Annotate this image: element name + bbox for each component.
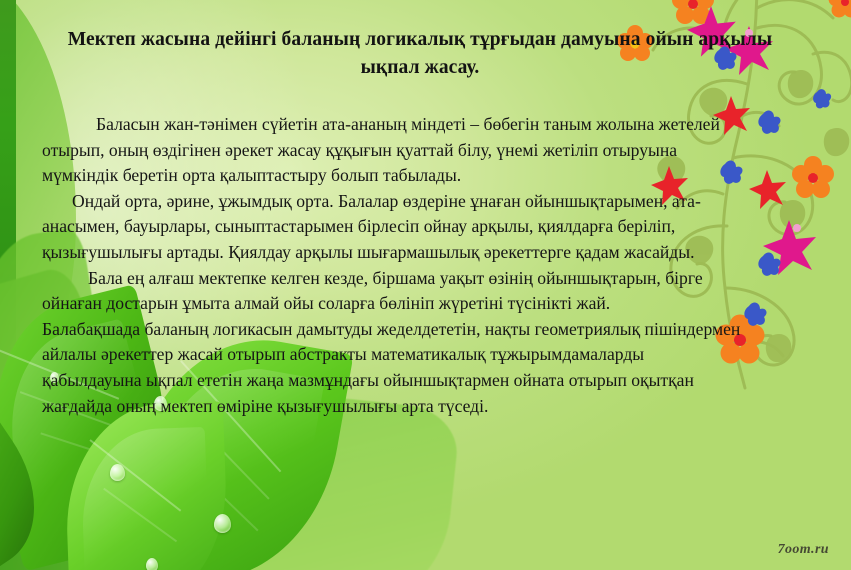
watermark: 7oom.ru [778, 542, 829, 558]
paragraph-1: Баласын жан-тәнімен сүйетін ата-ананың м… [42, 112, 742, 189]
title-line-1: Мектеп жасына дейінгі баланың логикалық … [68, 29, 641, 50]
slide-canvas: Мектеп жасына дейінгі баланың логикалық … [0, 0, 851, 570]
paragraph-2: Ондай орта, әрине, ұжымдық орта. Балалар… [42, 189, 742, 266]
left-edge-strip [0, 0, 16, 570]
paragraph-4: Балабақшада баланың логикасын дамытуды ж… [42, 317, 742, 419]
slide-body-text: Баласын жан-тәнімен сүйетін ата-ананың м… [42, 112, 742, 419]
paragraph-3: Бала ең алғаш мектепке келген кезде, бір… [42, 266, 742, 317]
slide-title: Мектеп жасына дейінгі баланың логикалық … [62, 26, 778, 81]
